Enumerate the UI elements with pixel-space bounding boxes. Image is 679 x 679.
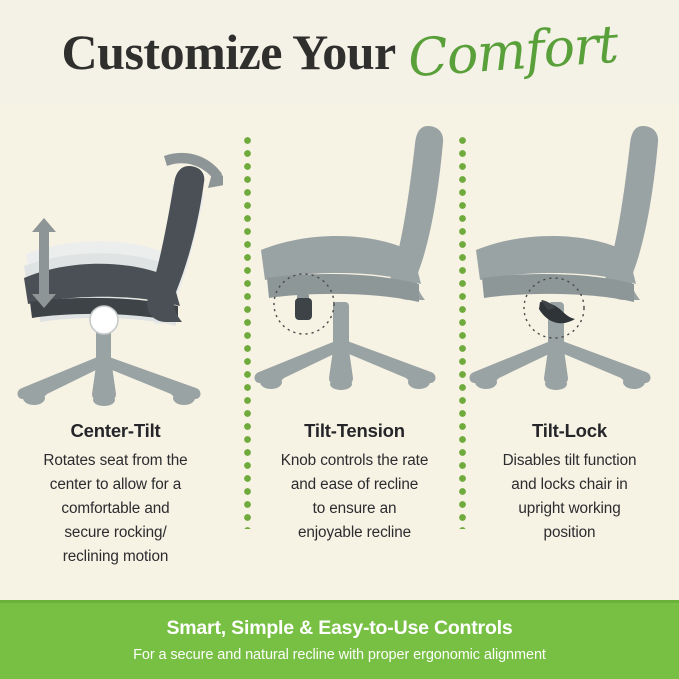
chair-tilt-tension-illustration <box>247 126 462 406</box>
column-description-center-tilt: Rotates seat from the center to allow fo… <box>8 449 223 569</box>
chair-tilt-lock-illustration <box>462 126 677 406</box>
column-title-center-tilt: Center-Tilt <box>8 420 223 442</box>
page-title: Customize YourComfort <box>0 22 679 82</box>
footer-banner: Smart, Simple & Easy-to-Use Controls For… <box>0 600 679 679</box>
infographic-page: Customize YourComfort <box>0 0 679 679</box>
chair-base <box>18 322 201 406</box>
title-script-text: Comfort <box>406 15 619 89</box>
column-title-tilt-lock: Tilt-Lock <box>462 420 677 442</box>
chair-center-tilt-illustration <box>8 126 223 406</box>
column-description-tilt-tension: Knob controls the rate and ease of recli… <box>247 449 462 545</box>
pivot-circle-icon <box>90 306 118 334</box>
footer-subtitle: For a secure and natural recline with pr… <box>0 647 679 663</box>
feature-column-tilt-tension: Tilt-Tension Knob controls the rate and … <box>247 104 462 574</box>
feature-column-tilt-lock: Tilt-Lock Disables tilt function and loc… <box>462 104 677 574</box>
header: Customize YourComfort <box>0 0 679 104</box>
footer-title: Smart, Simple & Easy-to-Use Controls <box>0 617 679 640</box>
tension-knob-icon <box>295 294 312 320</box>
title-main-text: Customize Your <box>62 24 396 80</box>
feature-column-center-tilt: Center-Tilt Rotates seat from the center… <box>8 104 223 574</box>
column-title-tilt-tension: Tilt-Tension <box>247 420 462 442</box>
column-description-tilt-lock: Disables tilt function and locks chair i… <box>462 449 677 545</box>
